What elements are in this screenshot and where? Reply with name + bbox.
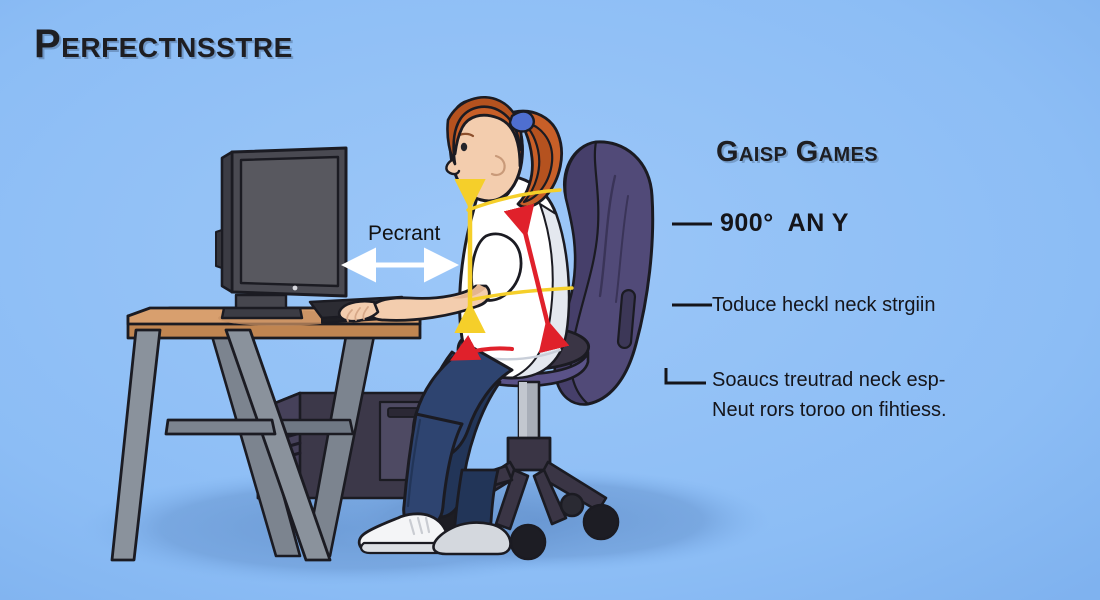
page-title: Perfectnsstre xyxy=(34,22,293,67)
bullet-item-1: Toduce heckl neck strgiin xyxy=(712,290,935,320)
bullet-item-2: Soaucs treutrad neck esp- Neut rors toro… xyxy=(712,365,947,425)
measure-label: Pecrant xyxy=(368,222,440,246)
infographic-canvas: Perfectnsstre Gaisp Games 900° AN Y Todu… xyxy=(0,0,1100,600)
bullet-item-0: 900° AN Y xyxy=(720,208,849,238)
text-layer: Perfectnsstre Gaisp Games 900° AN Y Todu… xyxy=(0,0,1100,600)
panel-heading: Gaisp Games xyxy=(716,136,878,169)
